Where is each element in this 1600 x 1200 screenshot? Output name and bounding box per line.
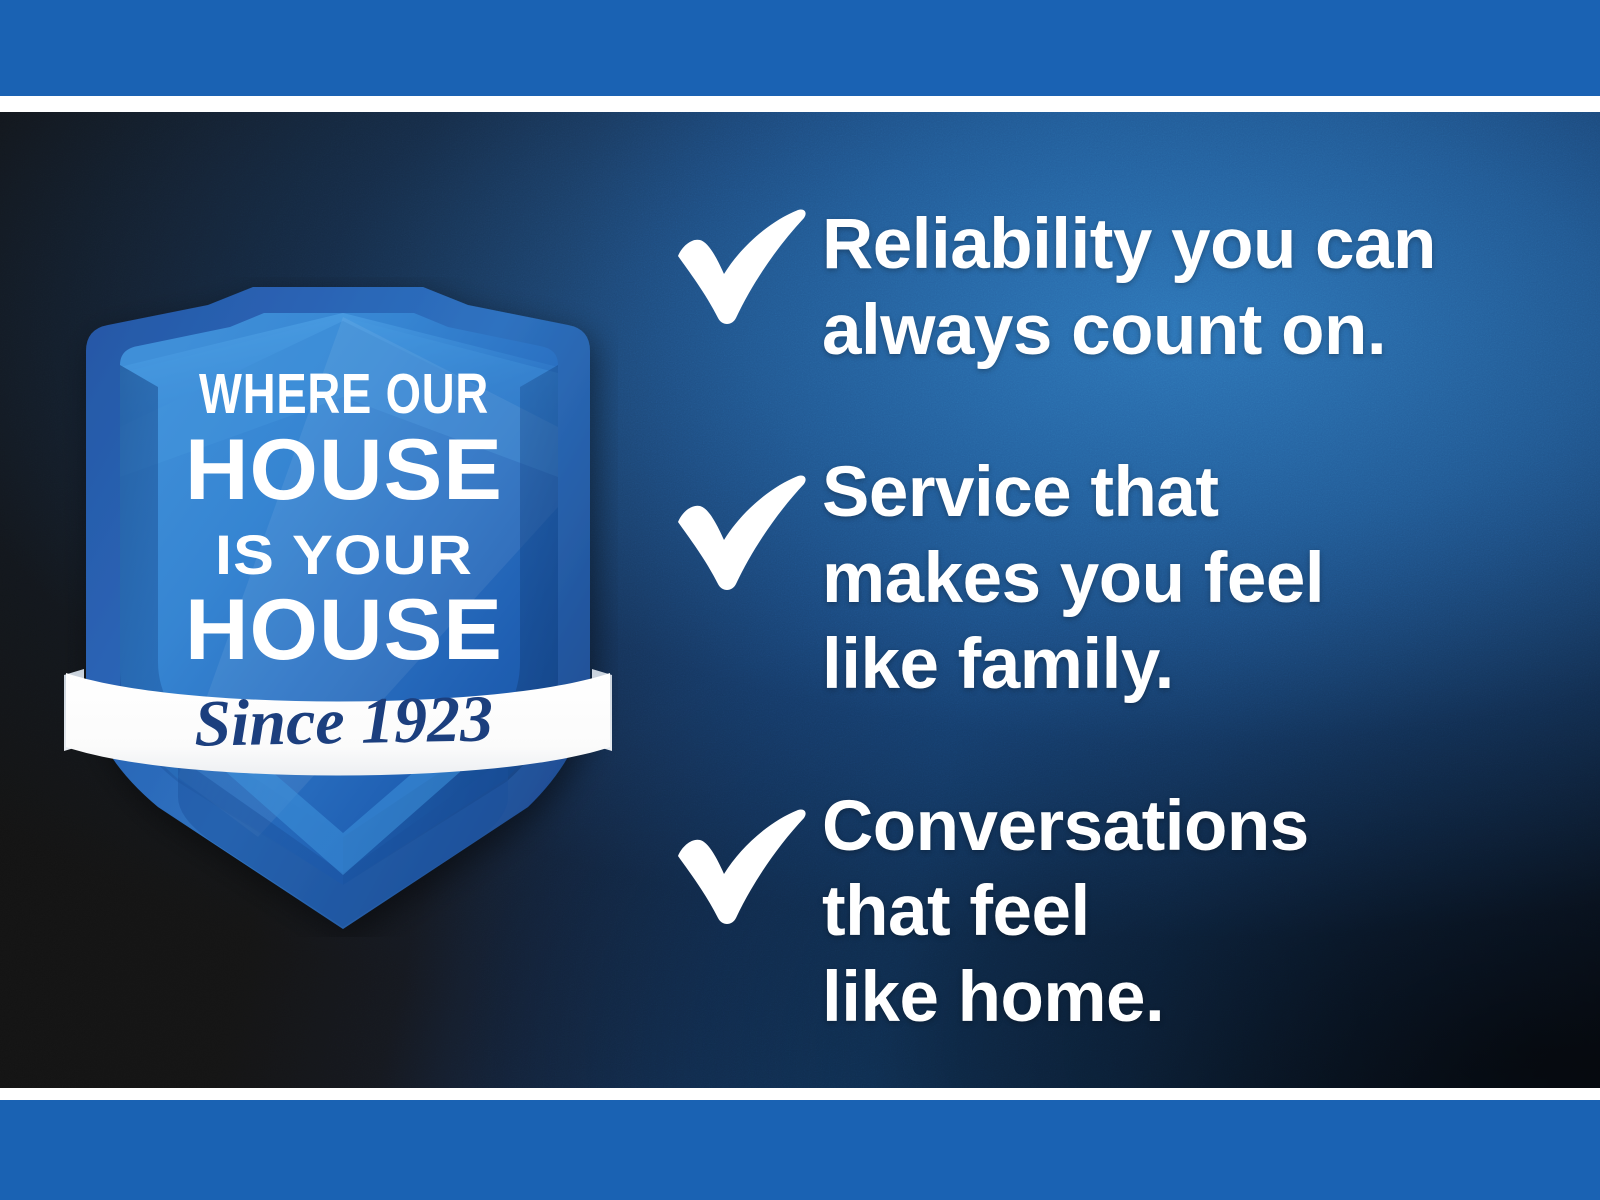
logo-tagline-line-2: HOUSE — [185, 422, 503, 518]
benefit-item: Reliability you can always count on. — [672, 200, 1552, 374]
ribbon-since-text: Since 1923 — [194, 682, 494, 760]
top-brand-bar — [0, 0, 1600, 96]
logo-tagline-line-1: WHERE OUR — [199, 362, 489, 426]
logo-tagline-line-4: HOUSE — [185, 582, 503, 678]
benefit-item: Conversations that feel like home. — [672, 782, 1552, 1042]
main-canvas: WHERE OUR HOUSE IS YOUR HOUSE Since 1923 — [0, 112, 1600, 1088]
benefit-text: Reliability you can always count on. — [822, 200, 1436, 374]
promotional-banner: WHERE OUR HOUSE IS YOUR HOUSE Since 1923 — [0, 0, 1600, 1200]
checkmark-icon — [672, 200, 822, 326]
checkmark-icon — [672, 448, 822, 592]
checkmark-icon — [672, 782, 822, 926]
benefit-text: Conversations that feel like home. — [822, 782, 1309, 1042]
bottom-brand-bar — [0, 1100, 1600, 1200]
benefit-text: Service that makes you feel like family. — [822, 448, 1324, 708]
logo-tagline-line-3: IS YOUR — [215, 523, 473, 586]
benefits-list: Reliability you can always count on. Ser… — [672, 200, 1552, 1041]
company-shield-logo: WHERE OUR HOUSE IS YOUR HOUSE Since 1923 — [58, 277, 618, 937]
benefit-item: Service that makes you feel like family. — [672, 448, 1552, 708]
